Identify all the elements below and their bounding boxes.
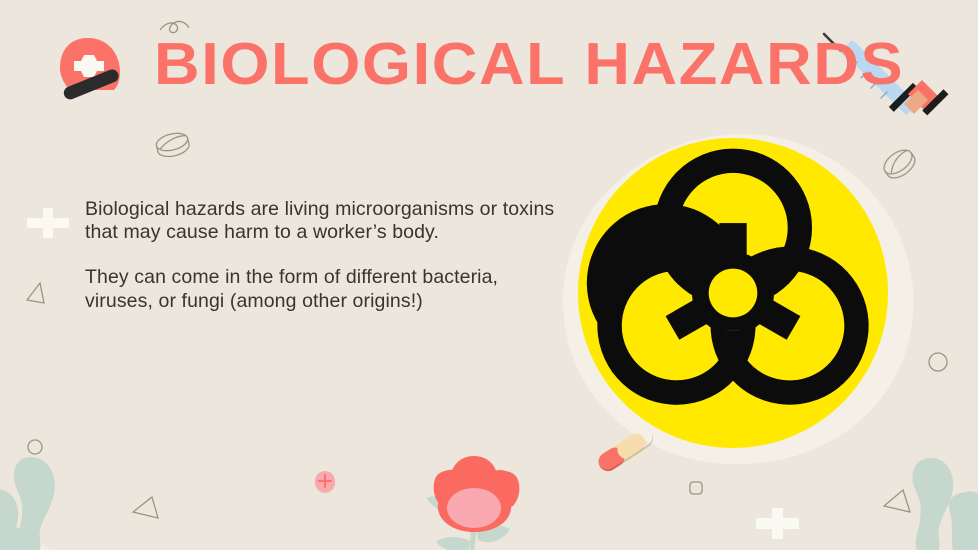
triangle-outline-right — [884, 490, 910, 512]
body-copy: Biological hazards are living microorgan… — [85, 198, 555, 313]
flower-decoration — [434, 456, 520, 532]
capsule-pill-icon — [595, 425, 657, 474]
paragraph-2: They can come in the form of different b… — [85, 266, 555, 312]
flower-leaves — [426, 496, 516, 550]
sage-leaves-left — [0, 457, 55, 550]
capsule-outline-right — [880, 145, 919, 182]
capsule-outline-left — [155, 130, 191, 159]
cream-blob-background — [563, 134, 914, 464]
cream-cross-bottom — [756, 508, 799, 539]
biohazard-symbol — [547, 138, 897, 448]
triangle-outline-bottom — [133, 497, 158, 518]
nurse-cap-icon — [60, 38, 121, 101]
circle-outline-right — [929, 353, 947, 371]
circle-outline-left — [28, 440, 42, 454]
paragraph-1: Biological hazards are living microorgan… — [85, 198, 555, 244]
slide-canvas: BIOLOGICAL HAZARDS Biological hazards ar… — [0, 0, 978, 550]
round-tablet-icon — [315, 471, 335, 493]
cream-corner-wedge — [0, 520, 52, 550]
triangle-outline-left — [27, 283, 44, 303]
cream-cross-left — [27, 208, 69, 238]
sage-leaves-right — [912, 458, 978, 550]
square-outline-center — [690, 482, 702, 494]
page-title: BIOLOGICAL HAZARDS — [154, 33, 903, 95]
